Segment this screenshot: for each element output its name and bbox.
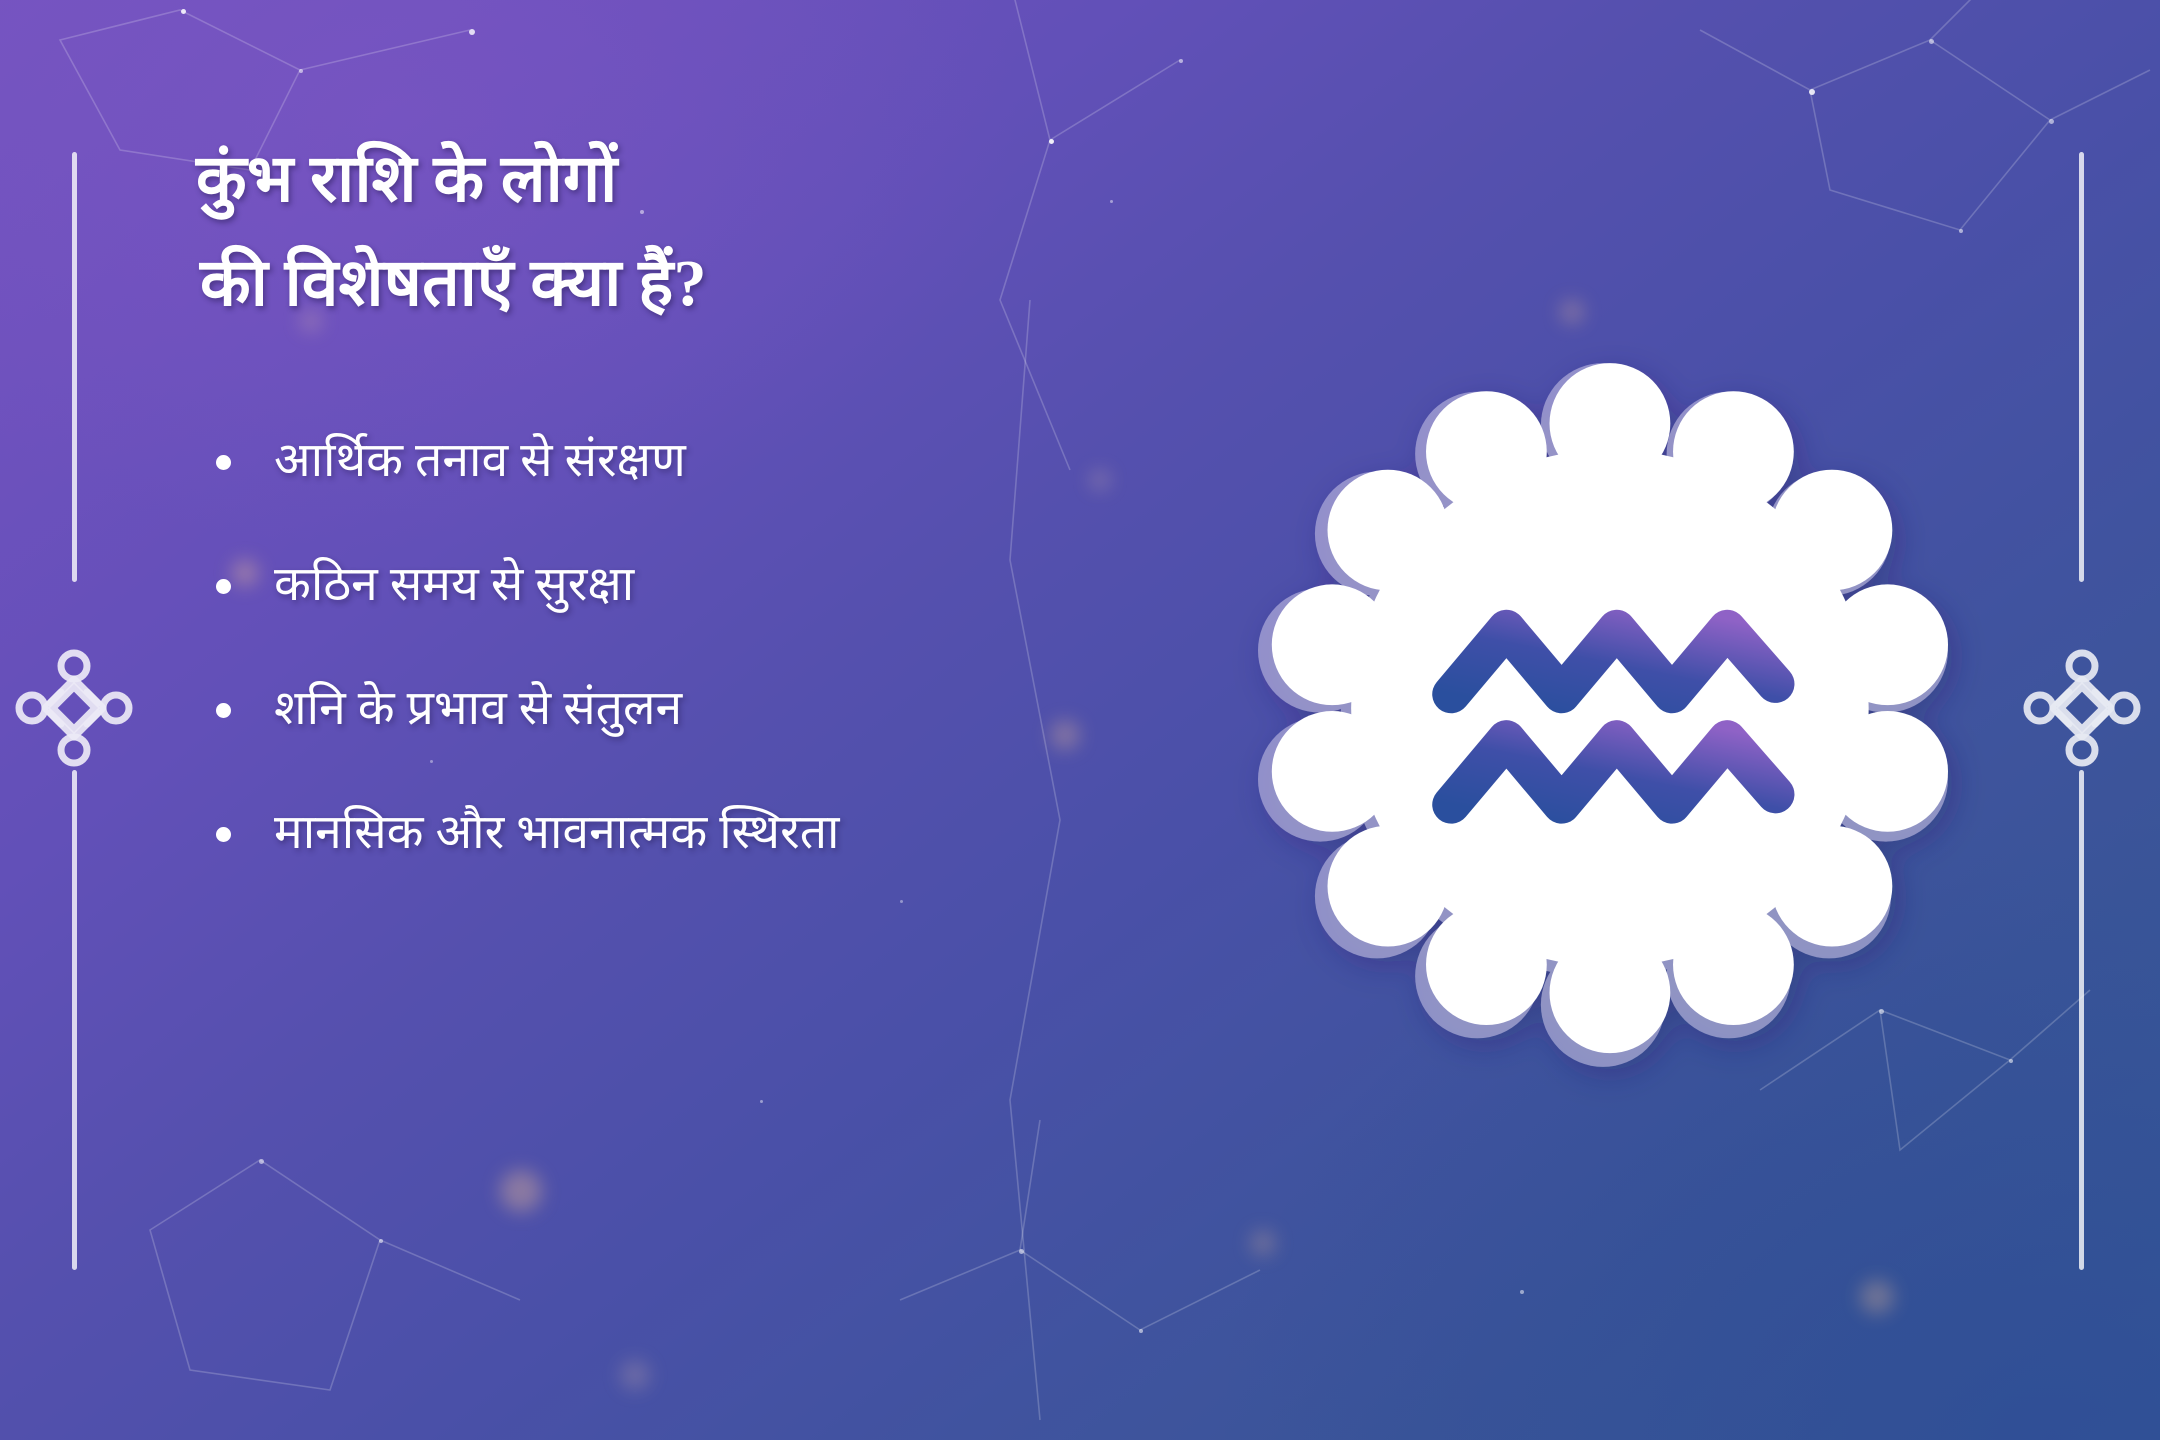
list-item-label: कठिन समय से सुरक्षा [274,558,634,611]
divider-rule-left-top [72,152,77,582]
list-item: आर्थिक तनाव से संरक्षण [196,429,1006,493]
celtic-knot-ornament-right-icon [2022,648,2142,768]
page-title-line-2: की विशेषताएँ क्या हैं? [200,232,1096,336]
content-column: कुंभ राशि के लोगों की विशेषताएँ क्या हैं… [196,128,1096,866]
celtic-knot-ornament-left-icon [14,648,134,768]
list-item: शनि के प्रभाव से संतुलन [196,677,1006,741]
list-item-label: मानसिक और भावनात्मक स्थिरता [274,806,840,859]
bullet-dot-icon [216,579,231,594]
page-title-line-1: कुंभ राशि के लोगों [196,128,1096,232]
bullet-dot-icon [216,703,231,718]
bullet-dot-icon [216,827,231,842]
list-item: कठिन समय से सुरक्षा [196,553,1006,617]
badge-scalloped-shape [1258,363,1948,1067]
divider-rule-right-top [2079,152,2084,582]
poster-canvas: कुंभ राशि के लोगों की विशेषताएँ क्या हैं… [0,0,2160,1440]
traits-list: आर्थिक तनाव से संरक्षण कठिन समय से सुरक्… [196,429,1096,866]
bullet-dot-icon [216,455,231,470]
list-item: मानसिक और भावनात्मक स्थिरता [196,801,1006,865]
divider-rule-right-bottom [2079,770,2084,1270]
list-item-label: शनि के प्रभाव से संतुलन [274,682,682,735]
aquarius-emblem-badge [1258,370,1948,1060]
page-title: कुंभ राशि के लोगों की विशेषताएँ क्या हैं… [196,128,1096,337]
list-item-label: आर्थिक तनाव से संरक्षण [274,434,686,487]
divider-rule-left-bottom [72,770,77,1270]
